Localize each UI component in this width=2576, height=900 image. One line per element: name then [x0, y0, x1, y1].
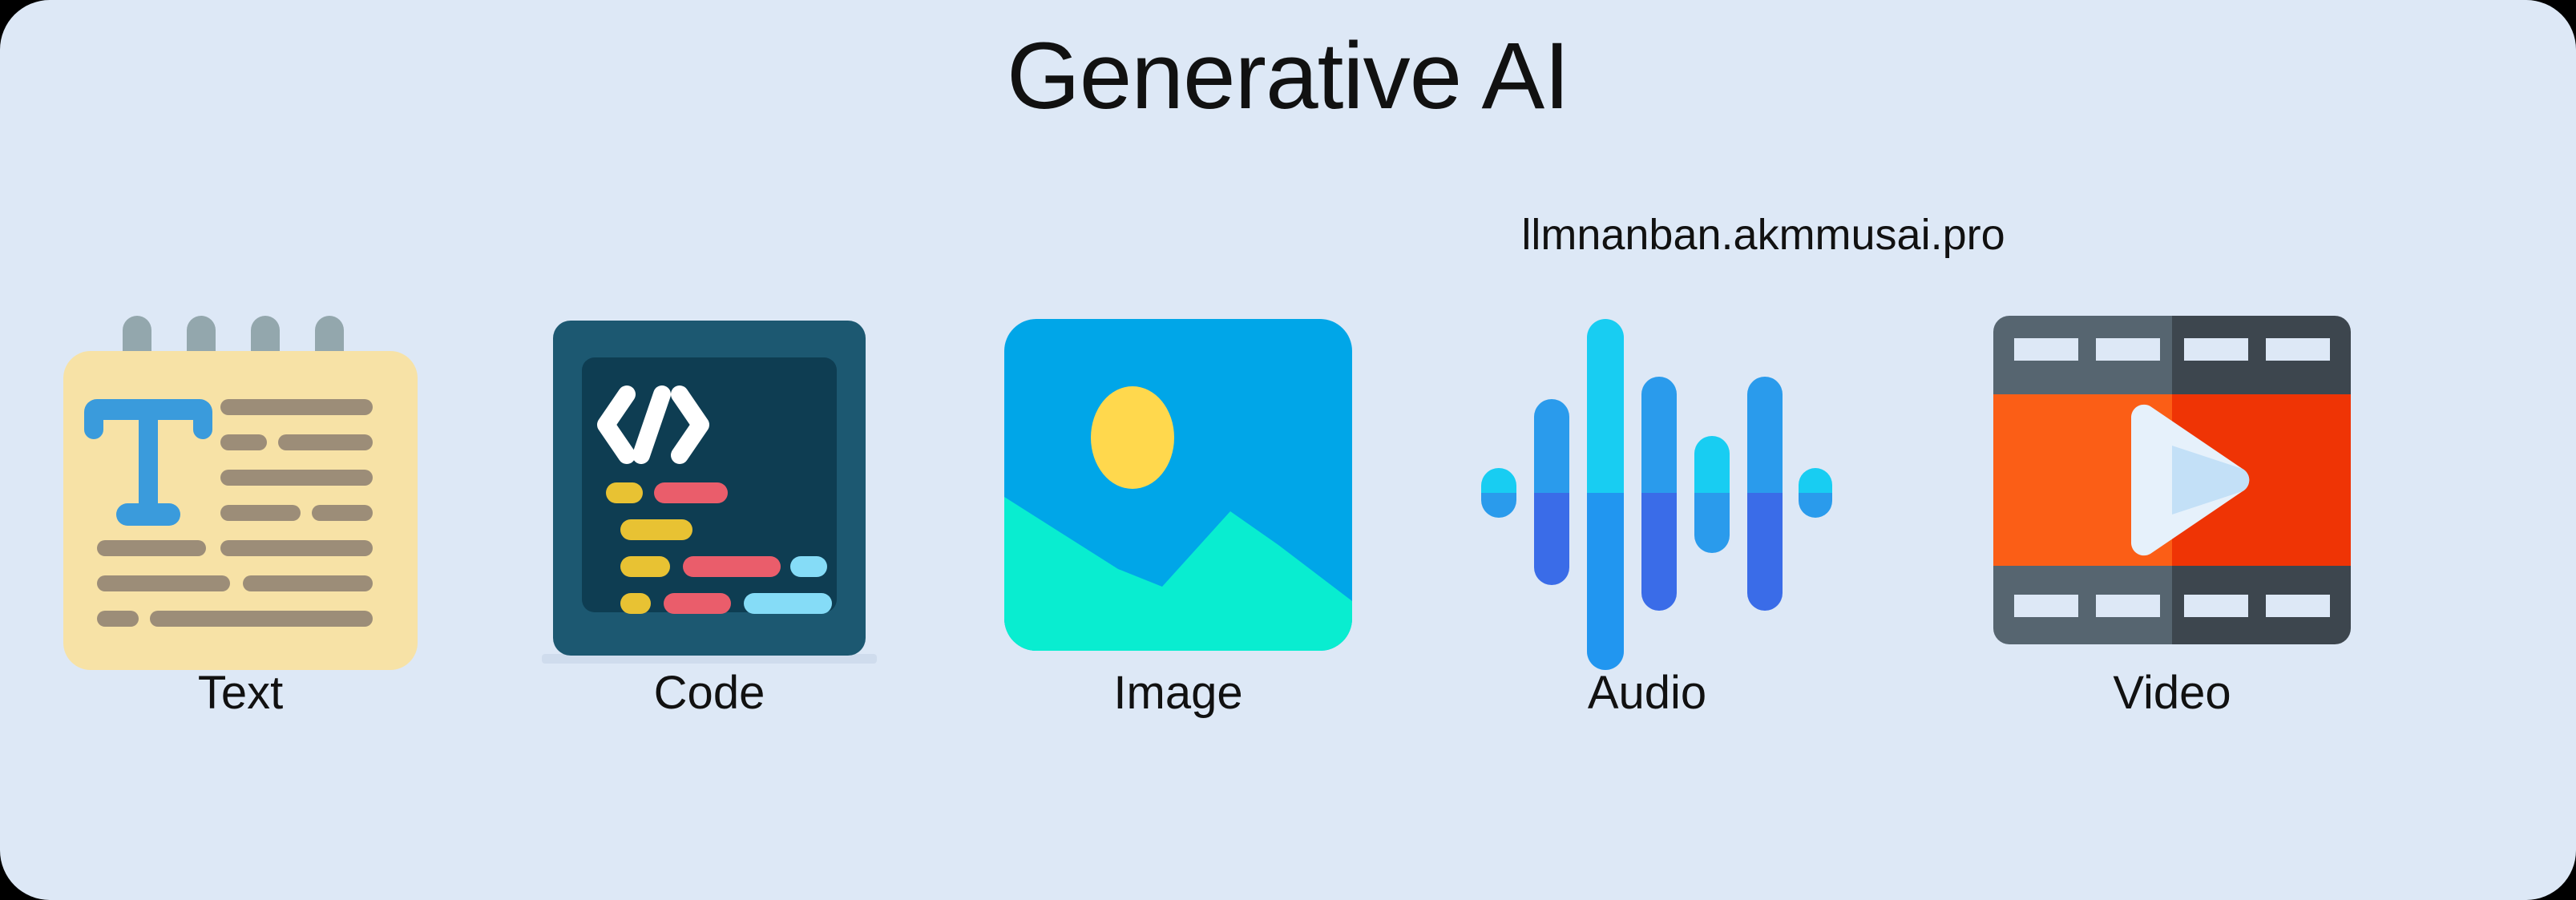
generative-ai-card: Generative AI llmnanban.akmmusai.pro — [0, 0, 2576, 900]
watermark-url: llmnanban.akmmusai.pro — [1282, 210, 2244, 260]
modality-item-text[interactable]: Text — [16, 305, 465, 753]
page-title: Generative AI — [0, 22, 2576, 131]
modality-item-video[interactable]: Video — [1892, 305, 2453, 753]
modality-label-video: Video — [1892, 666, 2453, 720]
modality-item-audio[interactable]: Audio — [1423, 305, 1871, 753]
film-strip-play-icon — [1984, 305, 2360, 681]
modality-item-image[interactable]: Image — [954, 305, 1403, 753]
modality-label-code: Code — [485, 666, 934, 720]
audio-waveform-icon — [1459, 305, 1835, 681]
code-editor-icon — [521, 305, 898, 681]
modality-label-image: Image — [954, 666, 1403, 720]
modality-label-text: Text — [16, 666, 465, 720]
photo-landscape-icon — [990, 305, 1367, 681]
modality-label-audio: Audio — [1423, 666, 1871, 720]
modality-item-code[interactable]: Code — [485, 305, 934, 753]
notepad-text-icon — [52, 305, 429, 681]
modality-row: Text — [0, 305, 2576, 753]
